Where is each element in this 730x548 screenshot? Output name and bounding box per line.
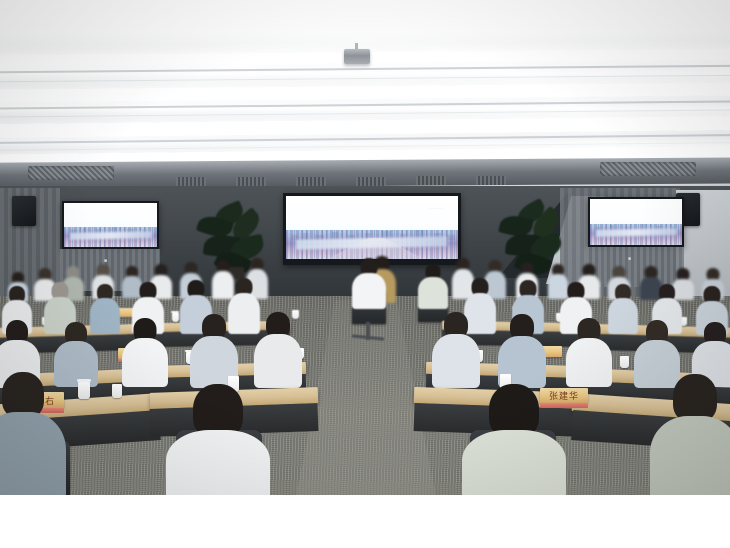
ceiling-projector-icon (344, 49, 370, 64)
right-display-stand (586, 247, 684, 287)
ceiling-seam (0, 74, 730, 82)
attendee (432, 312, 480, 384)
attendee (190, 314, 238, 384)
air-vent-icon (296, 177, 326, 186)
attendee-foreground (650, 374, 730, 495)
air-vent-icon (600, 162, 696, 176)
attendee (122, 318, 168, 384)
air-vent-icon (236, 177, 266, 186)
screen-watermark: ········ (429, 206, 444, 211)
wall-speaker-icon (12, 196, 36, 226)
attendee-foreground (0, 372, 66, 495)
ceiling-seam (0, 64, 730, 73)
left-display-screen (64, 203, 157, 247)
paper-cup (620, 356, 629, 368)
air-vent-icon (476, 176, 506, 185)
letterbox-bottom (0, 495, 730, 548)
right-display-tag: ■ (628, 256, 632, 262)
attendee-front-center (418, 264, 448, 308)
cup-lid (171, 311, 179, 313)
ceiling (0, 0, 730, 175)
attendee-foreground (462, 384, 566, 495)
air-vent-icon (416, 176, 446, 185)
right-display-screen (590, 199, 682, 245)
attendee (254, 312, 302, 384)
paper-cup (112, 384, 122, 398)
attendee-foreground (166, 384, 270, 495)
main-led-wall-screen: ········ (286, 196, 458, 259)
cup-lid (77, 379, 91, 382)
air-vent-icon (356, 177, 386, 186)
paper-cup (172, 313, 179, 322)
conference-room-photo: ■ ········ (0, 0, 730, 495)
attendee (566, 318, 612, 384)
attendee-front-center (352, 258, 386, 308)
ceiling-light-fixture (0, 82, 730, 103)
paper-cup (78, 382, 90, 399)
air-vent-icon (28, 166, 114, 180)
air-vent-icon (176, 177, 206, 186)
